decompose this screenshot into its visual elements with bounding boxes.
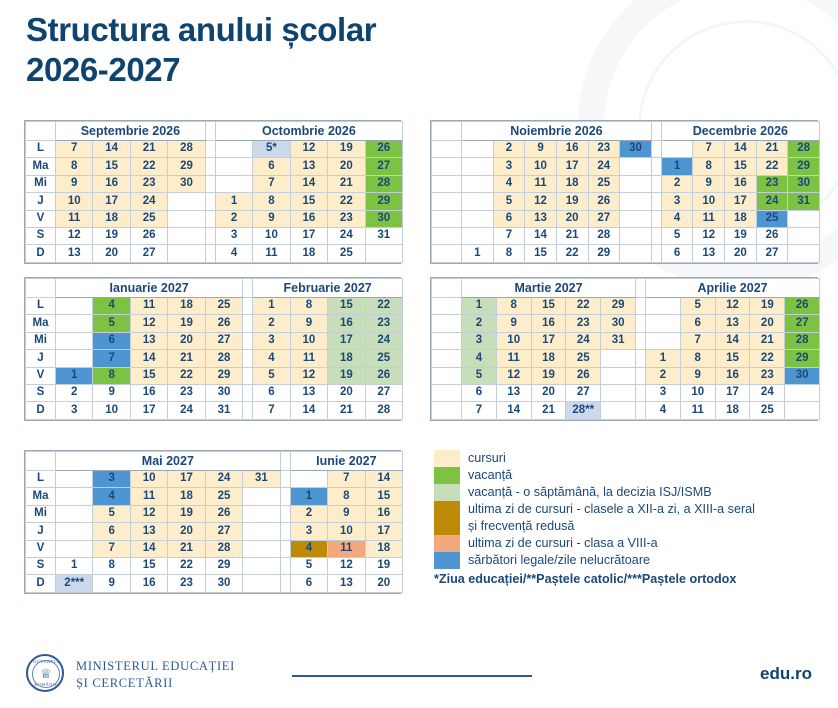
- title-line-1: Structura anului școlar: [26, 11, 376, 48]
- calendar-day-cell: 28: [788, 141, 820, 158]
- calendar-day-cell: 26: [365, 367, 402, 384]
- footer-divider: [292, 675, 532, 677]
- calendar-day-cell: 18: [168, 298, 205, 315]
- calendar-week-row: J10172418152229: [26, 193, 403, 210]
- calendar-week-row: D2***916233061320: [26, 575, 403, 592]
- calendar-day-cell: 20: [531, 384, 566, 401]
- calendar-gap-cell: [636, 402, 646, 419]
- calendar-day-cell: 10: [130, 471, 167, 488]
- calendar-day-cell: 23: [588, 141, 620, 158]
- calendar-day-cell: 12: [130, 315, 167, 332]
- month-gap: [243, 279, 253, 298]
- calendar-empty-cell: [215, 175, 252, 192]
- seal-top-text: GUVERNUL: [28, 659, 66, 664]
- calendar-empty-cell: [243, 488, 281, 505]
- calendar-day-cell: 22: [365, 298, 402, 315]
- month-title-left: Ianuarie 2027: [56, 279, 243, 298]
- calendar-day-cell: 4: [646, 402, 681, 419]
- calendar-empty-cell: [788, 210, 820, 227]
- day-label: J: [26, 193, 56, 210]
- month-title-right: Decembrie 2026: [661, 122, 819, 141]
- calendar-day-cell: 16: [130, 384, 167, 401]
- calendar-empty-cell: [646, 332, 681, 349]
- legend-label: cursuri: [468, 450, 506, 467]
- title-line-2: 2026-2027: [26, 50, 376, 90]
- calendar-day-cell: 26: [588, 193, 620, 210]
- day-label: J: [26, 523, 56, 540]
- calendar-day-cell: 18: [290, 245, 327, 262]
- calendar-day-cell: 12: [496, 367, 531, 384]
- calendar-day-cell: 20: [365, 575, 402, 592]
- calendar-day-cell: 20: [328, 158, 365, 175]
- calendar-empty-cell: [601, 384, 636, 401]
- calendar-empty-cell: [56, 315, 93, 332]
- calendar-corner: [26, 452, 56, 471]
- calendar-empty-cell: [661, 141, 693, 158]
- day-label: L: [26, 298, 56, 315]
- calendar-day-cell: 7: [56, 141, 93, 158]
- legend-swatch-vacanta1: [434, 484, 460, 501]
- calendar-day-cell: 19: [168, 505, 205, 522]
- calendar-day-cell: 12: [715, 298, 750, 315]
- ministry-line-1: MINISTERUL EDUCAȚIEI: [76, 658, 235, 675]
- calendar-gap-cell: [205, 210, 215, 227]
- calendar-day-cell: 27: [130, 245, 167, 262]
- calendar-week-row: J71421284111825: [26, 350, 403, 367]
- calendar-day-cell: 23: [566, 315, 601, 332]
- calendar-day-cell: 28: [205, 540, 242, 557]
- calendar-week-row: Ma5121926291623: [26, 315, 403, 332]
- calendar-day-cell: 14: [130, 350, 167, 367]
- calendar-day-cell: 17: [328, 332, 365, 349]
- calendar-day-cell: 13: [525, 210, 557, 227]
- calendar-day-cell: 14: [525, 227, 557, 244]
- calendar-gap-cell: [636, 384, 646, 401]
- calendar-week-row: 411182529162330: [432, 175, 820, 192]
- calendar-gap-cell: [243, 384, 253, 401]
- calendar-day-cell: 15: [365, 488, 402, 505]
- calendar-day-cell: 9: [253, 210, 290, 227]
- footer: GUVERNUL ♕ ROMÂNIEI MINISTERUL EDUCAȚIEI…: [0, 648, 838, 708]
- calendar-day-cell: 11: [693, 210, 725, 227]
- calendar-day-cell: 6: [661, 245, 693, 262]
- calendar-week-row: 71421285121926: [432, 227, 820, 244]
- calendar-day-cell: 1: [253, 298, 290, 315]
- calendar-day-cell: 15: [290, 193, 327, 210]
- calendar-gap-cell: [280, 471, 290, 488]
- month-title-left: Septembrie 2026: [56, 122, 206, 141]
- calendar-empty-cell: [462, 141, 494, 158]
- calendar-empty-cell: [365, 245, 402, 262]
- calendar-day-cell: 23: [756, 175, 788, 192]
- calendar-day-cell: 30: [205, 575, 242, 592]
- calendar-day-cell: 14: [290, 402, 327, 419]
- calendar-day-cell: 24: [328, 227, 365, 244]
- calendar-day-cell: 27: [365, 158, 402, 175]
- calendar-day-cell: 6: [93, 523, 130, 540]
- calendar-empty-cell: [620, 193, 652, 210]
- calendar-day-cell: 21: [168, 350, 205, 367]
- day-label: Ma: [26, 315, 56, 332]
- calendar-day-cell: 29: [168, 158, 205, 175]
- calendar-empty-cell: [215, 158, 252, 175]
- calendar-day-cell: 22: [328, 193, 365, 210]
- calendar-day-cell: 4: [493, 175, 525, 192]
- calendar-day-cell: 30: [168, 175, 205, 192]
- calendar-empty-cell: [56, 350, 93, 367]
- calendar-day-cell: 26: [130, 227, 167, 244]
- calendar-day-cell: 24: [588, 158, 620, 175]
- calendar-week-row: 61320274111825: [432, 210, 820, 227]
- day-label: [432, 141, 462, 158]
- day-label: Ma: [26, 488, 56, 505]
- calendar-day-cell: 16: [531, 315, 566, 332]
- calendar-day-cell: 3: [93, 471, 130, 488]
- calendar-day-cell: 10: [693, 193, 725, 210]
- calendar-week-row: 291623307142128: [432, 141, 820, 158]
- calendar-day-cell: 9: [290, 315, 327, 332]
- calendar-day-cell: 22: [756, 158, 788, 175]
- day-label: [432, 332, 462, 349]
- calendar-day-cell: 4: [661, 210, 693, 227]
- calendar-day-cell: 30: [785, 367, 820, 384]
- seal-bottom-text: ROMÂNIEI: [28, 682, 66, 687]
- calendar-day-cell: 24: [130, 193, 167, 210]
- calendar-day-cell: 6: [462, 384, 497, 401]
- calendar-day-cell: 23: [365, 315, 402, 332]
- calendar-empty-cell: [290, 471, 327, 488]
- calendar-day-cell: 12: [525, 193, 557, 210]
- calendar-day-cell: 13: [130, 523, 167, 540]
- calendar-gap-cell: [280, 575, 290, 592]
- day-label: V: [26, 540, 56, 557]
- legend: cursurivacanțăvacanță - o săptămână, la …: [434, 450, 824, 586]
- calendar-day-cell: 27: [785, 315, 820, 332]
- calendar-day-cell: 6: [253, 384, 290, 401]
- calendar-day-cell: 29: [601, 298, 636, 315]
- calendar-day-cell: 31: [788, 193, 820, 210]
- calendar-gap-cell: [651, 158, 661, 175]
- calendar-day-cell: 2: [646, 367, 681, 384]
- calendar-gap-cell: [243, 367, 253, 384]
- calendar-week-row: 310172418152229: [432, 158, 820, 175]
- calendar-day-cell: 1: [462, 298, 497, 315]
- calendar-empty-cell: [462, 210, 494, 227]
- calendar-day-cell: 25: [205, 488, 242, 505]
- calendar-day-cell: 19: [365, 557, 402, 574]
- calendar-day-cell: 17: [715, 384, 750, 401]
- calendar-empty-cell: [56, 488, 93, 505]
- day-label: D: [26, 245, 56, 262]
- day-label: S: [26, 384, 56, 401]
- calendar-day-cell: 8: [328, 488, 365, 505]
- calendar-day-cell: 8: [93, 557, 130, 574]
- calendar-week-row: 411182518152229: [432, 350, 820, 367]
- calendar-empty-cell: [462, 158, 494, 175]
- day-label: [432, 245, 462, 262]
- day-label: [432, 384, 462, 401]
- calendar-day-cell: 29: [588, 245, 620, 262]
- calendar-day-cell: 27: [566, 384, 601, 401]
- calendar-day-cell: 2***: [56, 575, 93, 592]
- calendar-day-cell: 23: [168, 384, 205, 401]
- month-gap: [636, 279, 646, 298]
- calendar-day-cell: 11: [130, 488, 167, 505]
- calendar-day-cell: 4: [462, 350, 497, 367]
- calendar-week-row: Mi91623307142128: [26, 175, 403, 192]
- day-label: [432, 193, 462, 210]
- calendar-day-cell: 27: [365, 384, 402, 401]
- calendar-day-cell: 9: [328, 505, 365, 522]
- calendar-day-cell: 9: [693, 175, 725, 192]
- calendar-gap-cell: [243, 350, 253, 367]
- calendar-day-cell: 13: [290, 158, 327, 175]
- calendar-day-cell: 5: [661, 227, 693, 244]
- calendar-day-cell: 7: [462, 402, 497, 419]
- calendar-day-cell: 5: [680, 298, 715, 315]
- calendar-day-cell: 11: [253, 245, 290, 262]
- calendar-empty-cell: [462, 175, 494, 192]
- calendar-day-cell: 22: [566, 298, 601, 315]
- calendar-day-cell: 7: [328, 471, 365, 488]
- calendar-day-cell: 21: [168, 540, 205, 557]
- calendar-day-cell: 18: [365, 540, 402, 557]
- calendar-week-row: 181522295121926: [432, 298, 820, 315]
- calendar-day-cell: 25: [365, 350, 402, 367]
- calendar-day-cell: 28: [365, 402, 402, 419]
- calendar-day-cell: 18: [715, 402, 750, 419]
- calendar-gap-cell: [651, 210, 661, 227]
- calendar-gap-cell: [651, 141, 661, 158]
- calendar-day-cell: 17: [365, 523, 402, 540]
- calendar-day-cell: 7: [253, 175, 290, 192]
- month-title-right: Octombrie 2026: [215, 122, 402, 141]
- calendar-day-cell: 3: [661, 193, 693, 210]
- calendar-day-cell: 25: [328, 245, 365, 262]
- calendar-day-cell: 16: [130, 575, 167, 592]
- calendar-empty-cell: [243, 575, 281, 592]
- calendar-day-cell: 28**: [566, 402, 601, 419]
- eagle-icon: ♕: [39, 666, 53, 682]
- calendar-day-cell: 17: [725, 193, 757, 210]
- calendar-empty-cell: [215, 141, 252, 158]
- calendar-day-cell: 15: [130, 557, 167, 574]
- calendar-day-cell: 8: [493, 245, 525, 262]
- calendar-day-cell: 4: [253, 350, 290, 367]
- calendar-day-cell: 30: [365, 210, 402, 227]
- calendar-week-row: 512192629162330: [432, 367, 820, 384]
- day-label: L: [26, 141, 56, 158]
- calendar-day-cell: 2: [215, 210, 252, 227]
- month-title-right: Februarie 2027: [253, 279, 403, 298]
- calendar-corner: [432, 279, 462, 298]
- calendar-gap-cell: [243, 402, 253, 419]
- calendar-gap-cell: [636, 315, 646, 332]
- calendar-week-row: 7142128**4111825: [432, 402, 820, 419]
- calendar-day-cell: 11: [328, 540, 365, 557]
- calendar-day-cell: 20: [750, 315, 785, 332]
- calendar-day-cell: 5: [493, 193, 525, 210]
- calendar-day-cell: 7: [253, 402, 290, 419]
- calendar-gap-cell: [651, 227, 661, 244]
- month-title-right: Aprilie 2027: [646, 279, 820, 298]
- calendar-day-cell: 11: [56, 210, 93, 227]
- calendar-day-cell: 22: [750, 350, 785, 367]
- calendar-week-row: S291623306132027: [26, 384, 403, 401]
- calendar-gap-cell: [651, 193, 661, 210]
- month-gap: [651, 122, 661, 141]
- calendar-day-cell: 26: [785, 298, 820, 315]
- calendar-empty-cell: [168, 227, 205, 244]
- calendar-day-cell: 12: [693, 227, 725, 244]
- calendar-day-cell: 5: [290, 557, 327, 574]
- calendar-gap-cell: [205, 158, 215, 175]
- calendar-day-cell: 8: [693, 158, 725, 175]
- calendar-day-cell: 14: [725, 141, 757, 158]
- month-title-left: Mai 2027: [56, 452, 281, 471]
- calendar-week-row: J613202731017: [26, 523, 403, 540]
- legend-item: sărbători legale/zile nelucrătoare: [434, 552, 824, 569]
- calendar-day-cell: 24: [566, 332, 601, 349]
- calendar-day-cell: 25: [588, 175, 620, 192]
- calendar-day-cell: 4: [215, 245, 252, 262]
- calendar-gap-cell: [243, 332, 253, 349]
- calendar-week-row: 3101724317142128: [432, 332, 820, 349]
- calendar-week-row: S121926310172431: [26, 227, 403, 244]
- legend-label: vacanță: [468, 467, 512, 484]
- calendar-day-cell: 24: [750, 384, 785, 401]
- calendar-day-cell: 8: [290, 298, 327, 315]
- calendar-day-cell: 23: [130, 175, 167, 192]
- calendar-day-cell: 15: [531, 298, 566, 315]
- ministry-line-2: ȘI CERCETĂRII: [76, 675, 235, 692]
- calendar-gap-cell: [636, 367, 646, 384]
- calendar-week-row: V181522295121926: [26, 367, 403, 384]
- calendar-empty-cell: [785, 402, 820, 419]
- calendar-day-cell: 4: [93, 298, 130, 315]
- calendar-day-cell: 3: [493, 158, 525, 175]
- calendar-day-cell: 14: [365, 471, 402, 488]
- day-label: D: [26, 402, 56, 419]
- calendar-empty-cell: [168, 193, 205, 210]
- day-label: [432, 158, 462, 175]
- calendar-day-cell: 5: [93, 505, 130, 522]
- calendar-day-cell: 31: [601, 332, 636, 349]
- calendar-day-cell: 22: [556, 245, 588, 262]
- day-label: [432, 227, 462, 244]
- calendar-day-cell: 31: [365, 227, 402, 244]
- calendar-day-cell: 11: [496, 350, 531, 367]
- calendar-day-cell: 25: [130, 210, 167, 227]
- calendar-day-cell: 15: [725, 158, 757, 175]
- calendar-week-row: Ma81522296132027: [26, 158, 403, 175]
- calendar-day-cell: 2: [290, 505, 327, 522]
- calendar-day-cell: 23: [168, 575, 205, 592]
- calendar-day-cell: 31: [205, 402, 243, 419]
- calendar-day-cell: 21: [130, 141, 167, 158]
- calendar-day-cell: 2: [493, 141, 525, 158]
- calendar-day-cell: 20: [725, 245, 757, 262]
- calendar-day-cell: 13: [290, 384, 327, 401]
- calendar-empty-cell: [620, 245, 652, 262]
- calendar-gap-cell: [205, 141, 215, 158]
- calendar-day-cell: 18: [531, 350, 566, 367]
- calendar-day-cell: 25: [756, 210, 788, 227]
- day-label: S: [26, 557, 56, 574]
- calendar-empty-cell: [56, 505, 93, 522]
- legend-item: ultima zi de cursuri - clasa a VIII-a: [434, 535, 824, 552]
- calendar-day-cell: 14: [93, 141, 130, 158]
- calendar-day-cell: 1: [661, 158, 693, 175]
- calendar-gap-cell: [205, 193, 215, 210]
- calendar-day-cell: 7: [493, 227, 525, 244]
- day-label: Ma: [26, 158, 56, 175]
- legend-swatch-vacanta: [434, 467, 460, 484]
- calendar-day-cell: 4: [93, 488, 130, 505]
- calendar-day-cell: 10: [253, 227, 290, 244]
- calendar-day-cell: 19: [168, 315, 205, 332]
- calendar-day-cell: 29: [205, 557, 242, 574]
- calendar-day-cell: 6: [493, 210, 525, 227]
- calendar-day-cell: 20: [556, 210, 588, 227]
- calendar-day-cell: 12: [130, 505, 167, 522]
- calendar-day-cell: 14: [290, 175, 327, 192]
- calendar-week-row: 181522296132027: [432, 245, 820, 262]
- calendar-empty-cell: [243, 523, 281, 540]
- month-title-left: Martie 2027: [462, 279, 636, 298]
- calendar-day-cell: 1: [646, 350, 681, 367]
- calendar-day-cell: 5: [93, 315, 130, 332]
- calendar-empty-cell: [620, 210, 652, 227]
- calendar-day-cell: 6: [253, 158, 290, 175]
- legend-item: vacanță - o săptămână, la decizia ISJ/IS…: [434, 484, 824, 501]
- calendar-corner: [432, 122, 462, 141]
- calendar-week-row: 5121926310172431: [432, 193, 820, 210]
- calendar-gap-cell: [651, 175, 661, 192]
- calendar-empty-cell: [785, 384, 820, 401]
- calendar-day-cell: 7: [93, 540, 130, 557]
- calendar-day-cell: 3: [462, 332, 497, 349]
- government-seal-icon: GUVERNUL ♕ ROMÂNIEI: [26, 654, 64, 692]
- calendar-day-cell: 30: [205, 384, 243, 401]
- calendar-day-cell: 2: [462, 315, 497, 332]
- day-label: [432, 402, 462, 419]
- calendar-day-cell: 8: [680, 350, 715, 367]
- calendar-block-mar-apr: Martie 2027Aprilie 202718152229512192629…: [430, 277, 818, 421]
- calendar-gap-cell: [636, 350, 646, 367]
- day-label: [432, 350, 462, 367]
- calendar-week-row: S1815222951219: [26, 557, 403, 574]
- legend-swatch-ultimaxii: [434, 501, 460, 535]
- calendar-day-cell: 18: [168, 488, 205, 505]
- calendar-day-cell: 9: [93, 384, 130, 401]
- calendar-day-cell: 14: [130, 540, 167, 557]
- calendar-day-cell: 3: [56, 402, 93, 419]
- legend-item: cursuri: [434, 450, 824, 467]
- calendar-empty-cell: [601, 350, 636, 367]
- calendar-day-cell: 23: [750, 367, 785, 384]
- day-label: S: [26, 227, 56, 244]
- calendar-week-row: L310172431714: [26, 471, 403, 488]
- calendar-week-row: 291623306132027: [432, 315, 820, 332]
- calendar-day-cell: 13: [693, 245, 725, 262]
- calendar-day-cell: 15: [328, 298, 365, 315]
- calendar-day-cell: 3: [290, 523, 327, 540]
- calendar-day-cell: 20: [168, 523, 205, 540]
- calendar-day-cell: 24: [365, 332, 402, 349]
- calendar-day-cell: 18: [93, 210, 130, 227]
- calendar-day-cell: 19: [750, 298, 785, 315]
